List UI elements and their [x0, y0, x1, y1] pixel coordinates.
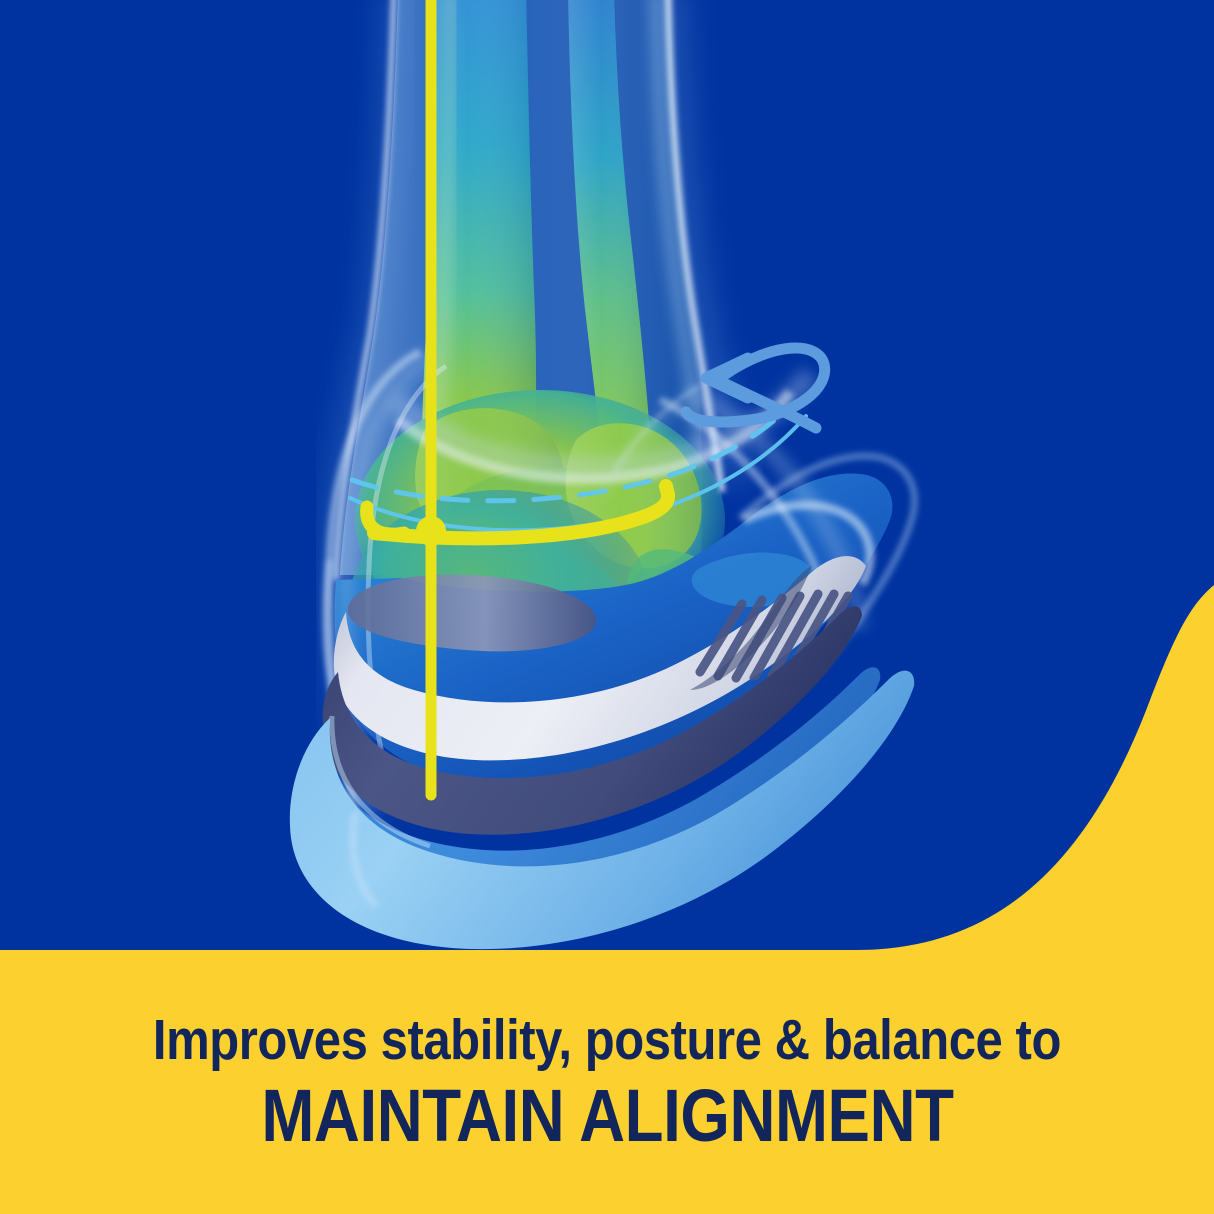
illustration-svg: [0, 0, 1214, 1214]
promo-graphic: Improves stability, posture & balance to…: [0, 0, 1214, 1214]
illustration-stage: [0, 0, 1214, 1214]
alignment-center-dot: [416, 516, 446, 546]
